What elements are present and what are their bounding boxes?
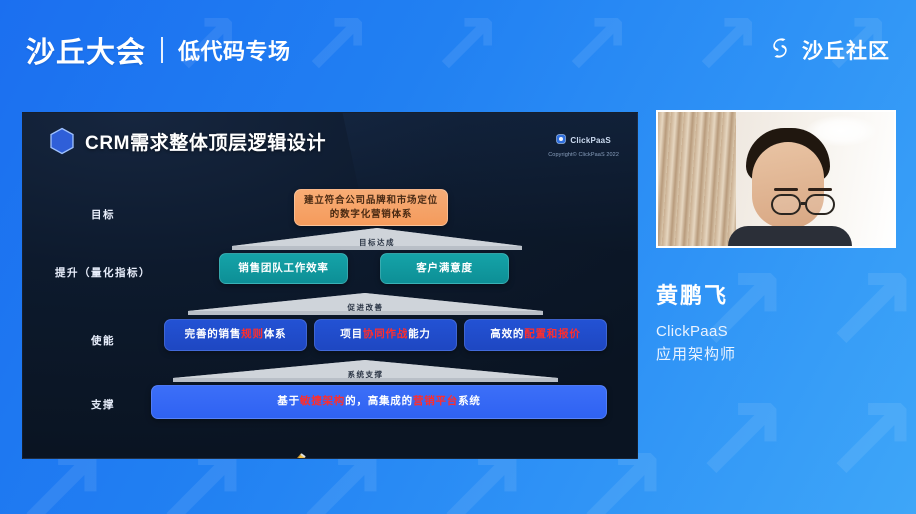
header-title-group: 沙丘大会 低代码专场	[26, 29, 291, 71]
event-title: 沙丘大会	[26, 29, 146, 71]
clickpaas-logo: ClickPaaS Copyright© ClickPaaS 2022	[548, 131, 619, 158]
hexagon-icon	[49, 127, 75, 155]
goal-line-2: 的数字化营销体系	[330, 208, 412, 222]
band-label: 促进改善	[188, 302, 543, 313]
glasses-lens-left	[771, 194, 801, 215]
enable-suffix: 能力	[408, 328, 431, 340]
page-header: 沙丘大会 低代码专场 沙丘社区	[0, 0, 916, 100]
sandhill-s-logo-icon	[767, 35, 793, 66]
title-divider	[161, 37, 163, 63]
slide-canvas[interactable]: CRM需求整体顶层逻辑设计 ClickPaaS Copyright© Click…	[22, 112, 638, 459]
row-label-enable: 使能	[91, 333, 115, 348]
enable-highlight: 配置和报价	[524, 328, 581, 340]
shoulders	[728, 226, 852, 246]
pencil-cursor	[285, 451, 307, 459]
speaker-name: 黄鹏飞	[656, 278, 906, 310]
slide-title: CRM需求整体顶层逻辑设计	[85, 128, 326, 155]
brand-group: 沙丘社区	[767, 35, 890, 66]
enable-highlight: 规则	[241, 328, 264, 340]
window-blinds	[658, 112, 736, 246]
event-subtitle: 低代码专场	[178, 34, 291, 66]
enable-box-collaboration[interactable]: 项目协同作战能力	[314, 319, 457, 351]
goal-box[interactable]: 建立符合公司品牌和市场定位 的数字化营销体系	[294, 189, 448, 226]
enable-suffix: 体系	[264, 328, 287, 340]
band-label: 系统支撑	[173, 369, 558, 380]
support-part-2: 的，高集成的	[345, 395, 413, 407]
goal-line-1: 建立符合公司品牌和市场定位	[304, 194, 438, 208]
enable-prefix: 高效的	[490, 328, 524, 340]
band-promote-improvement: 促进改善	[188, 293, 543, 315]
support-highlight-1: 敏捷架构	[300, 395, 345, 407]
kpi-box-sales-efficiency[interactable]: 销售团队工作效率	[219, 253, 348, 284]
support-highlight-2: 营销平台	[413, 395, 458, 407]
speaker-webcam-feed[interactable]	[656, 110, 896, 248]
face	[752, 142, 824, 228]
speaker-role: 应用架构师	[656, 343, 906, 364]
enable-prefix: 完善的销售	[185, 328, 242, 340]
speaker-org: ClickPaaS	[656, 323, 906, 340]
band-goal-achievement: 目标达成	[232, 228, 522, 250]
support-part-1: 基于	[277, 395, 300, 407]
brand-name: 沙丘社区	[802, 35, 890, 65]
row-label-kpi: 提升（量化指标）	[55, 265, 151, 280]
enable-prefix: 项目	[340, 328, 363, 340]
kpi-box-customer-satisfaction[interactable]: 客户满意度	[380, 253, 509, 284]
speaker-info: 黄鹏飞 ClickPaaS 应用架构师	[656, 278, 906, 364]
glasses-lens-right	[805, 194, 835, 215]
clickpaas-icon	[556, 131, 566, 149]
clickpaas-copyright: Copyright© ClickPaaS 2022	[548, 152, 619, 158]
enable-box-sales-rules[interactable]: 完善的销售规则体系	[164, 319, 307, 351]
row-label-goal: 目标	[91, 207, 115, 222]
eyebrow-right	[808, 188, 832, 191]
clickpaas-name: ClickPaaS	[570, 136, 611, 145]
arrow-watermark: ↗	[690, 380, 791, 500]
slide-header: CRM需求整体顶层逻辑设计	[49, 127, 326, 155]
arrow-watermark: ↗	[820, 380, 916, 500]
glasses-bridge	[801, 202, 807, 205]
eyebrow-left	[774, 188, 798, 191]
band-label: 目标达成	[232, 237, 522, 248]
band-system-support: 系统支撑	[173, 360, 558, 382]
presentation-stage: ↗ ↗ ↗ ↗ ↗ ↗ ↗ ↗ ↗ ↗ ↗ ↗ ↗ ↗ ↗ 沙丘大会 低代码专场	[0, 0, 916, 514]
speaker-portrait	[732, 118, 848, 246]
support-box-platform[interactable]: 基于敏捷架构的，高集成的营销平台系统	[151, 385, 607, 419]
enable-highlight: 协同作战	[363, 328, 408, 340]
row-label-support: 支撑	[91, 397, 115, 412]
support-part-3: 系统	[458, 395, 481, 407]
enable-box-quote-config[interactable]: 高效的配置和报价	[464, 319, 607, 351]
